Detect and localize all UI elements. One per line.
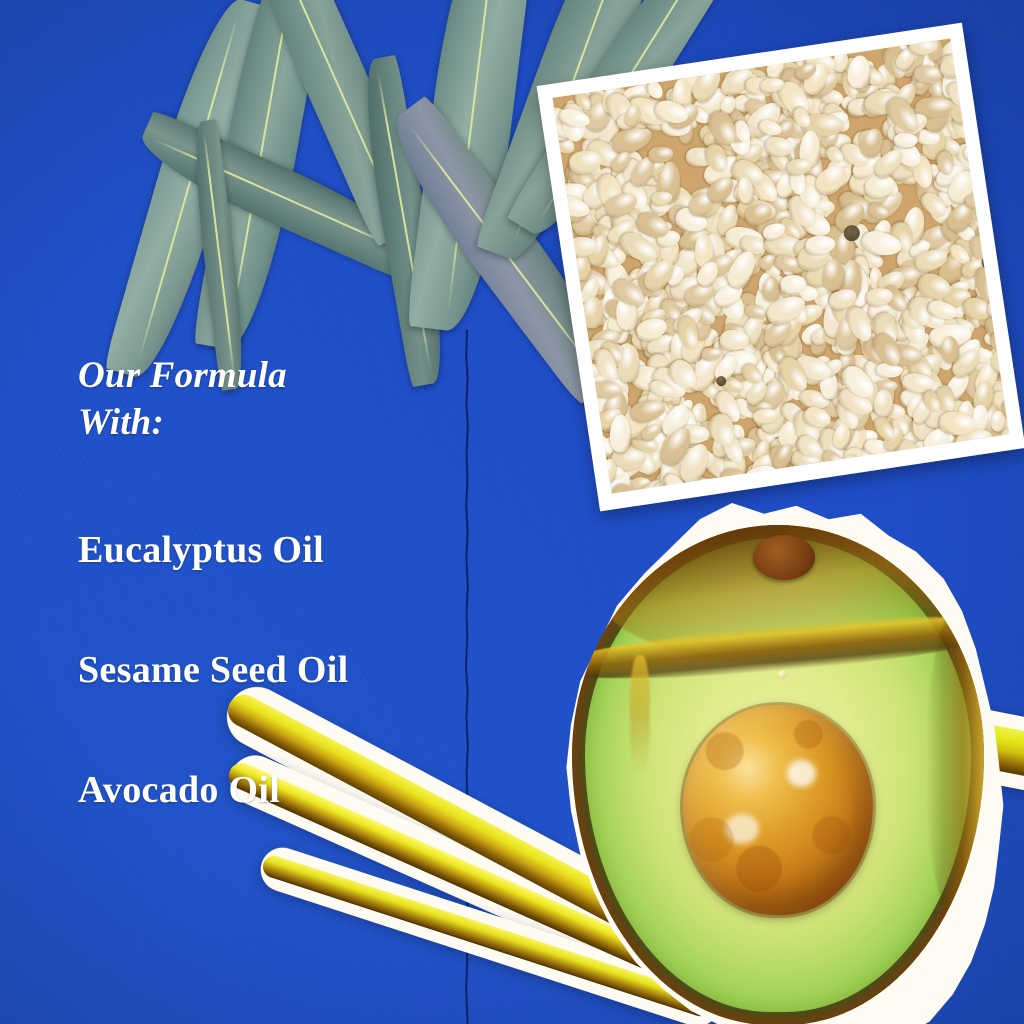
sesame-seed bbox=[637, 490, 674, 494]
sesame-seed bbox=[903, 451, 927, 473]
sesame-seed bbox=[621, 491, 664, 493]
sesame-seeds-photo bbox=[552, 38, 1009, 493]
oil-drip bbox=[630, 655, 651, 775]
ingredient-item-avocado-oil: Avocado Oil bbox=[78, 771, 458, 809]
sesame-seed bbox=[980, 213, 1005, 248]
oil-bubble bbox=[778, 670, 787, 679]
sesame-seed bbox=[885, 450, 903, 476]
sesame-seed bbox=[954, 45, 988, 84]
sesame-seeds-photo-card bbox=[537, 23, 1024, 512]
sesame-seed bbox=[874, 390, 893, 417]
ingredient-list: Eucalyptus Oil Sesame Seed Oil Avocado O… bbox=[78, 531, 458, 809]
sesame-seed bbox=[905, 456, 948, 485]
ingredient-item-eucalyptus-oil: Eucalyptus Oil bbox=[78, 531, 458, 569]
sesame-seed bbox=[973, 435, 1009, 480]
sesame-seed bbox=[1001, 434, 1009, 479]
sesame-seed bbox=[962, 107, 997, 142]
sesame-seed bbox=[700, 483, 728, 494]
sesame-seed bbox=[985, 437, 1010, 476]
product-ingredient-poster: Our Formula With: Eucalyptus Oil Sesame … bbox=[0, 0, 1024, 1024]
sesame-seed bbox=[996, 293, 1010, 322]
sesame-seed bbox=[605, 493, 632, 494]
sesame-seed bbox=[1004, 370, 1009, 398]
sesame-seed bbox=[698, 484, 723, 494]
sesame-seed bbox=[980, 219, 1005, 235]
sesame-seed bbox=[974, 141, 992, 164]
sesame-seed bbox=[866, 459, 889, 482]
sesame-seed bbox=[696, 484, 713, 493]
sesame-seed bbox=[914, 65, 942, 83]
pit-mottling bbox=[683, 705, 873, 915]
ingredient-item-sesame-seed-oil: Sesame Seed Oil bbox=[78, 651, 458, 689]
sesame-seed bbox=[909, 456, 939, 479]
sesame-seed bbox=[959, 69, 984, 92]
sesame-seed bbox=[963, 442, 988, 462]
sesame-seed bbox=[707, 482, 749, 493]
sesame-seed bbox=[671, 482, 713, 493]
avocado-pit bbox=[683, 705, 873, 915]
headline: Our Formula With: bbox=[78, 352, 458, 447]
avocado-half bbox=[572, 525, 984, 1024]
sesame-seed bbox=[951, 38, 987, 72]
sesame-seed bbox=[610, 415, 631, 453]
avocado-stem-nub bbox=[753, 535, 815, 580]
sesame-seed bbox=[968, 452, 1008, 477]
sesame-seed bbox=[779, 465, 801, 492]
sesame-seed bbox=[954, 73, 991, 102]
sesame-seed bbox=[953, 49, 994, 92]
sesame-seed bbox=[791, 470, 831, 493]
sesame-seed bbox=[840, 453, 865, 490]
sesame-seed bbox=[868, 460, 897, 488]
sesame-seed bbox=[972, 169, 1006, 203]
sesame-seed bbox=[722, 480, 754, 493]
sesame-seed bbox=[698, 485, 728, 493]
sesame-seed bbox=[719, 478, 739, 493]
sesame-seed bbox=[773, 471, 799, 493]
sesame-seed bbox=[737, 472, 764, 493]
sesame-seed bbox=[983, 260, 1009, 283]
sesame-seed bbox=[953, 58, 976, 83]
sesame-seed bbox=[910, 447, 953, 471]
sesame-seed bbox=[748, 473, 777, 494]
sesame-seed bbox=[718, 478, 747, 494]
sesame-seed bbox=[988, 298, 1010, 320]
sesame-seed bbox=[991, 410, 1005, 431]
sesame-seed bbox=[895, 452, 925, 483]
oil-rim-run bbox=[926, 605, 984, 925]
ingredient-text-block: Our Formula With: Eucalyptus Oil Sesame … bbox=[78, 352, 458, 809]
avocado-oil-composition bbox=[500, 495, 1024, 1024]
sesame-seed bbox=[997, 342, 1009, 364]
sesame-seed bbox=[793, 470, 827, 493]
sesame-seed bbox=[969, 161, 997, 192]
sesame-seed bbox=[982, 219, 1009, 258]
